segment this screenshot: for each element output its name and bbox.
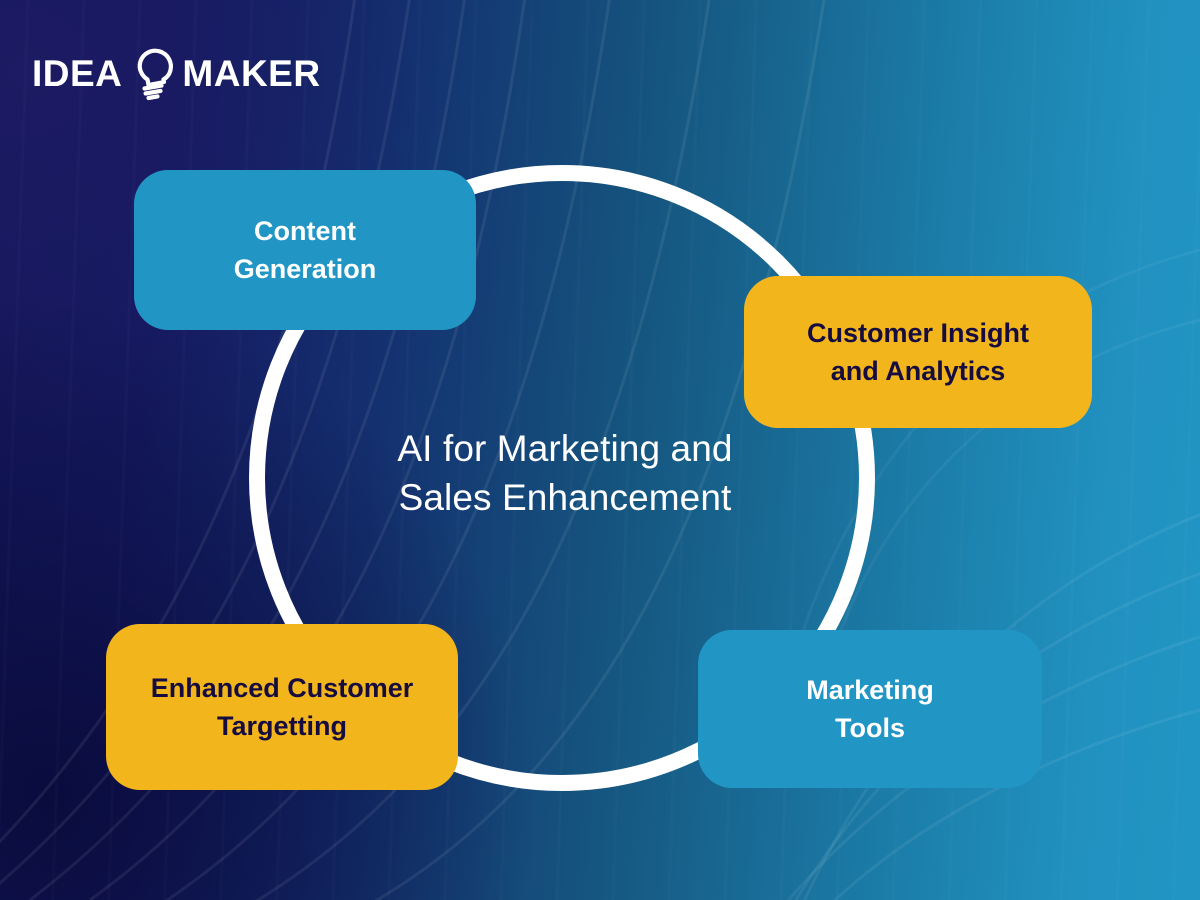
node-marketing-tools-line-1: Marketing: [806, 671, 934, 709]
node-marketing-tools[interactable]: Marketing Tools: [698, 630, 1042, 788]
node-enhanced-customer-targetting[interactable]: Enhanced Customer Targetting: [106, 624, 458, 790]
node-customer-insight-and-analytics[interactable]: Customer Insight and Analytics: [744, 276, 1092, 428]
page-title: AI for Marketing and Sales Enhancement: [330, 424, 800, 522]
page-title-line-2: Sales Enhancement: [330, 473, 800, 522]
node-customer-insight-line-2: and Analytics: [807, 352, 1029, 390]
node-customer-insight-line-1: Customer Insight: [807, 314, 1029, 352]
node-enhanced-customer-targetting-line-1: Enhanced Customer: [151, 669, 414, 707]
node-content-generation-line-1: Content: [234, 212, 377, 250]
node-marketing-tools-line-2: Tools: [806, 709, 934, 747]
node-enhanced-customer-targetting-line-2: Targetting: [151, 707, 414, 745]
page-title-line-1: AI for Marketing and: [330, 424, 800, 473]
infographic-canvas: IDEA MAKER AI for Marketing and Sales En…: [0, 0, 1200, 900]
logo-word-idea: IDEA: [32, 55, 122, 92]
node-content-generation-line-2: Generation: [234, 250, 377, 288]
node-content-generation[interactable]: Content Generation: [134, 170, 476, 330]
brand-logo: IDEA MAKER: [32, 44, 321, 102]
lightbulb-icon: [126, 44, 178, 102]
logo-word-maker: MAKER: [182, 55, 320, 92]
